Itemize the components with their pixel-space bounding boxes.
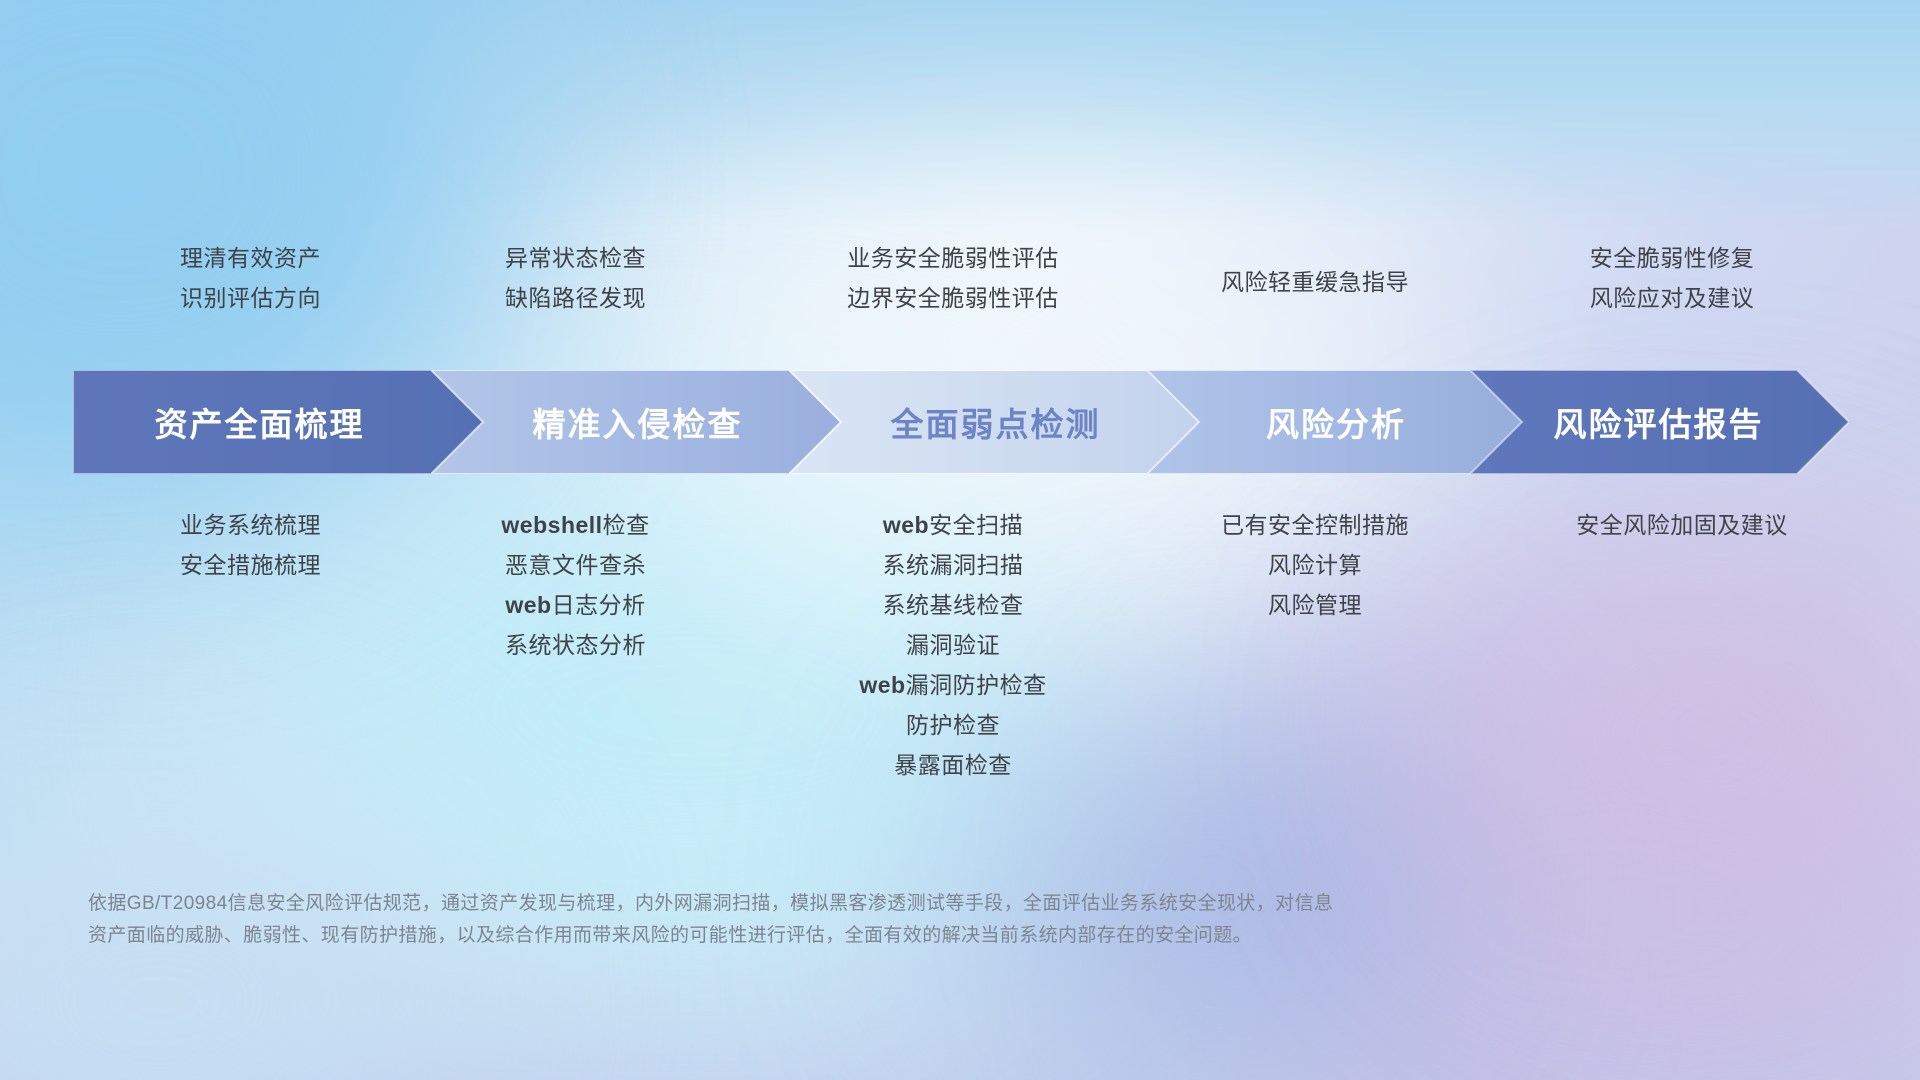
bottom-label: 业务系统梳理 [73,505,428,545]
stage-chevron-label: 风险评估报告 [1554,398,1764,446]
stage-1-top-labels: 理清有效资产 识别评估方向 [73,238,428,318]
top-label: 边界安全脆弱性评估 [763,278,1143,318]
stage-chevron-label: 资产全面梳理 [155,398,365,446]
bottom-label: 系统状态分析 [398,625,753,665]
stage-chevron-label: 精准入侵检查 [533,398,743,446]
stage-3-bottom-labels: web安全扫描 系统漏洞扫描 系统基线检查 漏洞验证 web漏洞防护检查 防护检… [763,505,1143,785]
top-label: 业务安全脆弱性评估 [763,238,1143,278]
stage-4-bottom-labels: 已有安全控制措施 风险计算 风险管理 [1135,505,1495,625]
footer-description: 依据GB/T20984信息安全风险评估规范，通过资产发现与梳理，内外网漏洞扫描，… [88,888,1568,952]
process-diagram: 理清有效资产 识别评估方向 异常状态检查 缺陷路径发现 业务安全脆弱性评估 边界… [0,0,1920,1080]
top-label: 缺陷路径发现 [398,278,753,318]
stage-5-top-labels: 安全脆弱性修复 风险应对及建议 [1492,238,1852,318]
top-label: 识别评估方向 [73,278,428,318]
bottom-label: 恶意文件查杀 [398,545,753,585]
stage-2-top-labels: 异常状态检查 缺陷路径发现 [398,238,753,318]
stage-chevron-3[interactable]: 全面弱点检测 [789,370,1204,474]
bottom-label: 防护检查 [763,705,1143,745]
top-label: 风险应对及建议 [1492,278,1852,318]
stage-chevron-5[interactable]: 风险评估报告 [1470,370,1849,474]
stage-3-top-labels: 业务安全脆弱性评估 边界安全脆弱性评估 [763,238,1143,318]
bottom-label: 风险管理 [1135,585,1495,625]
stage-chevron-label: 全面弱点检测 [891,398,1101,446]
stage-5-bottom-labels: 安全风险加固及建议 [1492,505,1872,545]
bottom-label: 漏洞验证 [763,625,1143,665]
stage-1-bottom-labels: 业务系统梳理 安全措施梳理 [73,505,428,585]
stage-2-bottom-labels: webshell检查 恶意文件查杀 web日志分析 系统状态分析 [398,505,753,665]
bottom-label: 已有安全控制措施 [1135,505,1495,545]
bottom-label: 风险计算 [1135,545,1495,585]
bottom-label: webshell检查 [398,505,753,545]
bottom-label: 安全措施梳理 [73,545,428,585]
process-chevron-bar: 资产全面梳理 精准入侵检查 [73,370,1849,474]
stage-chevron-2[interactable]: 精准入侵检查 [431,370,846,474]
top-label: 异常状态检查 [398,238,753,278]
stage-chevron-label: 风险分析 [1266,398,1406,446]
top-label: 理清有效资产 [73,238,428,278]
top-label: 风险轻重缓急指导 [1135,262,1495,302]
bottom-label: 系统基线检查 [763,585,1143,625]
stage-4-top-labels: 风险轻重缓急指导 [1135,262,1495,302]
bottom-label: 系统漏洞扫描 [763,545,1143,585]
stage-chevron-1[interactable]: 资产全面梳理 [73,370,488,474]
bottom-label: web日志分析 [398,585,753,625]
bottom-label: web安全扫描 [763,505,1143,545]
bottom-label: web漏洞防护检查 [763,665,1143,705]
top-label: 安全脆弱性修复 [1492,238,1852,278]
footer-line-1: 依据GB/T20984信息安全风险评估规范，通过资产发现与梳理，内外网漏洞扫描，… [88,888,1568,920]
footer-line-2: 资产面临的威胁、脆弱性、现有防护措施，以及综合作用而带来风险的可能性进行评估，全… [88,920,1568,952]
bottom-label: 安全风险加固及建议 [1492,505,1872,545]
bottom-label: 暴露面检查 [763,745,1143,785]
